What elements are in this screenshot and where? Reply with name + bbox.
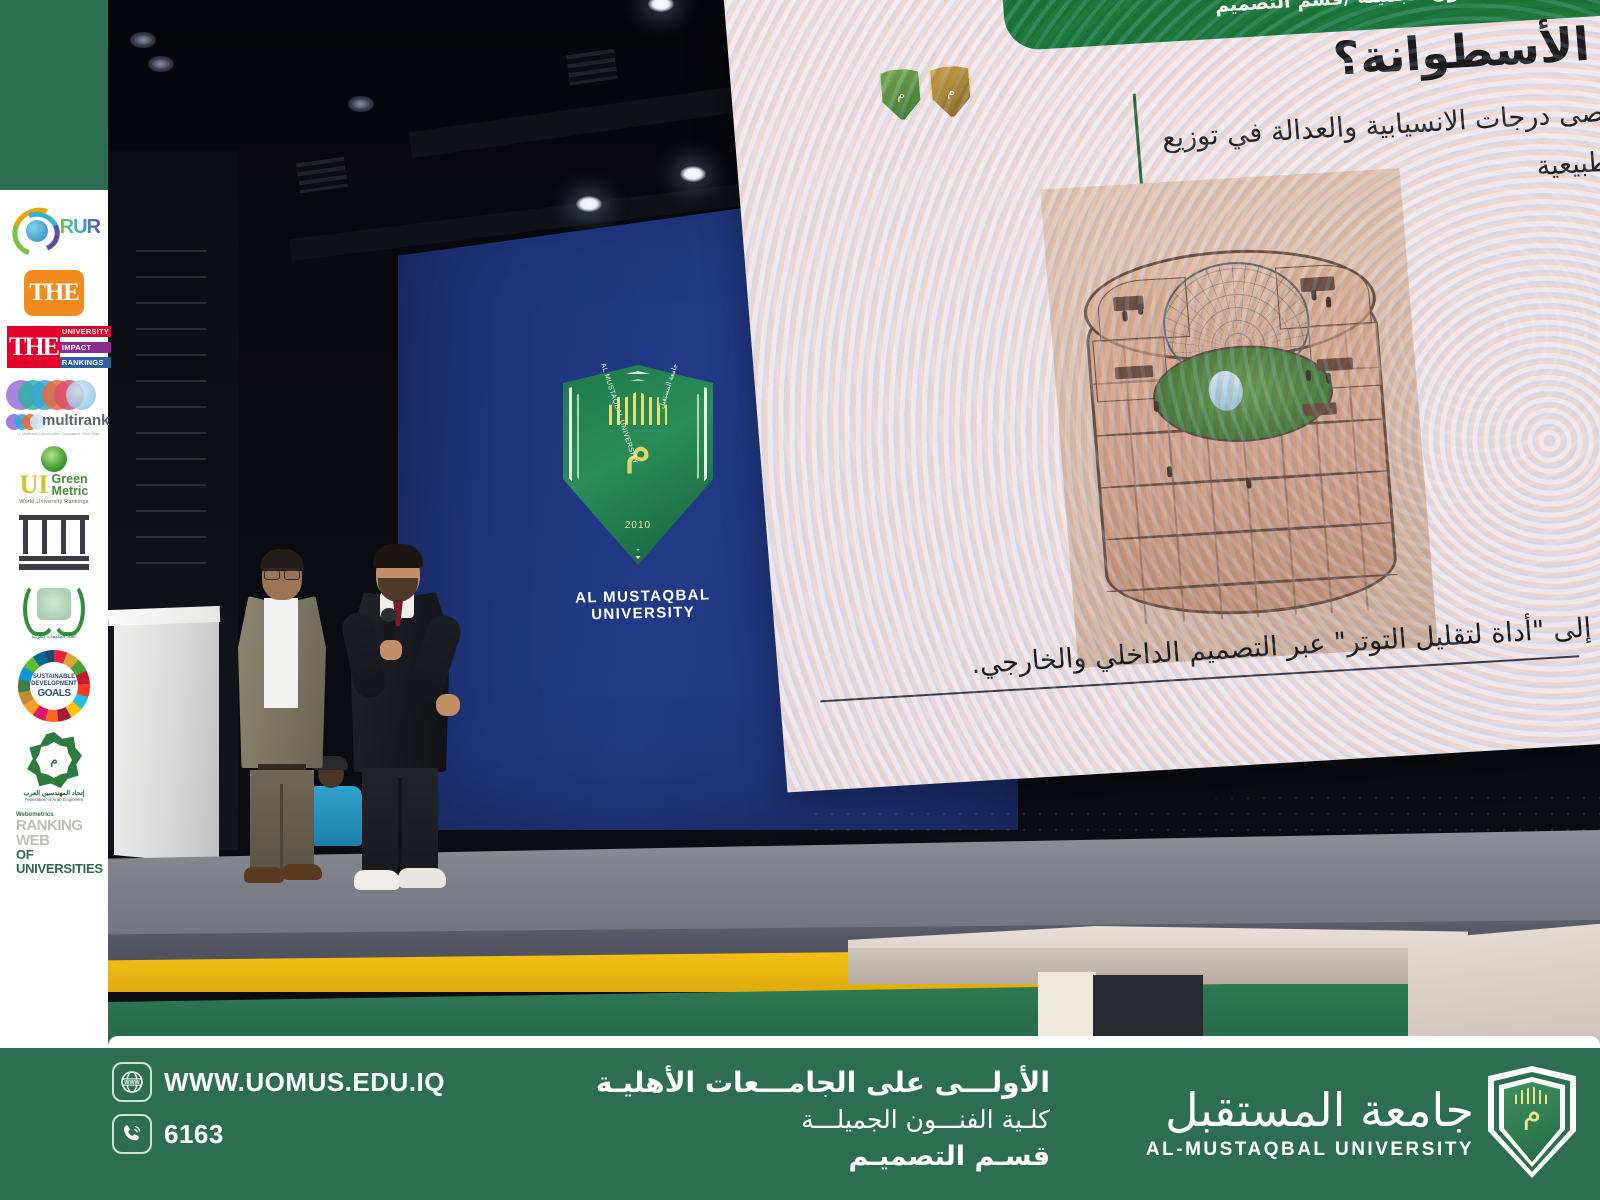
sidebar-item-rur[interactable]: RUR [5,204,103,260]
the-impact-line1: UNIVERSITY [60,326,111,337]
footer-brand-english: AL-MUSTAQBAL UNIVERSITY [1146,1139,1474,1161]
the-impact-rankings-logo-icon: THE UNIVERSITY IMPACT RANKINGS [7,326,101,368]
multirank-label: multirank [42,412,110,429]
multirank-sub: U-Multirank Universities Compared. Your … [6,432,102,436]
footer-shield-glyph: م [1488,1096,1576,1131]
sdg-goals-label: GOALS [37,688,70,699]
the-impact-line3: RANKINGS [60,357,111,368]
footer-website-label: WWW.UOMUS.EDU.IQ [164,1067,445,1098]
presenter-standing-left [228,552,333,882]
slide-illustration-cylinder-building [1040,168,1438,668]
the-logo-icon: THE [24,270,84,316]
ui-greenmetric-label: UI [20,474,49,496]
phone-icon [112,1114,152,1154]
slide-header-text: جامعة المستقبل /كلية الفنون الجميلة /قسم… [1214,0,1600,17]
presenter-speaking-right [340,548,460,896]
sidebar-item-federation-arab-engineers[interactable]: م إتحاد المهندسين العرب Federation of Ar… [5,732,103,802]
webometrics-line1: RANKING WEB [16,818,102,848]
footer-tagline-line1: الأولـــى على الجامـــعات الأهليـة [530,1064,1050,1102]
multirank-logo-icon: multirank U-Multirank Universities Compa… [6,378,102,436]
arab-universities-union-logo-icon: اتحاد الجامعات العربية [6,580,102,640]
ui-greenmetric-logo-icon: UI Green Metric World University Ranking… [6,446,102,505]
footer-brand-arabic: جامعة المستقبل [1146,1083,1474,1137]
backdrop-university-shield: م 2010 AL MUSTAQBAL UNIVERSITY جامعة الم… [563,365,713,565]
svg-text:WWW: WWW [124,1080,140,1086]
ui-greenmetric-line2: Metric [52,485,89,497]
sdg-label: SUSTAINABLE DEVELOPMENT [18,674,90,688]
rur-logo-icon: RUR [6,204,102,260]
podium [114,615,219,865]
footer-tagline-line2: كلـية الفنـــون الجميلـــة [530,1102,1050,1138]
sidebar-item-webometrics[interactable]: Webometrics RANKING WEB OF UNIVERSITIES [5,812,103,876]
footer-website-row[interactable]: WWW WWW.UOMUS.EDU.IQ [112,1062,445,1102]
eyeglasses-icon [264,568,300,576]
slide-logo-badges: م م [878,63,974,122]
sidebar-item-unesco-pillars[interactable] [5,515,103,570]
floor-ramp [1408,920,1600,1048]
footer-phone-row[interactable]: 6163 [112,1114,445,1154]
ceiling-spotlight [130,32,156,48]
sidebar-item-the-impact[interactable]: THE UNIVERSITY IMPACT RANKINGS [5,326,103,368]
footer-brand-block: جامعة المستقبل AL-MUSTAQBAL UNIVERSITY م [1146,1066,1576,1178]
footer-phone-label: 6163 [164,1119,224,1150]
footer-brand-text: جامعة المستقبل AL-MUSTAQBAL UNIVERSITY [1146,1083,1474,1161]
sdg-wheel-icon: SUSTAINABLE DEVELOPMENT GOALS [18,650,90,722]
the-impact-line2: IMPACT [60,342,111,353]
event-photograph: م 2010 AL MUSTAQBAL UNIVERSITY جامعة الم… [108,0,1600,1048]
rankings-sidebar: RUR THE THE UNIVERSITY IMPACT RANKINGS [0,190,108,1040]
webometrics-line2: OF UNIVERSITIES [16,848,102,876]
ceiling-spotlight [576,196,602,212]
ceiling-spotlight [348,96,374,112]
the-label: THE [29,279,79,307]
footer-tagline-block: الأولـــى على الجامـــعات الأهليـة كلـية… [530,1064,1050,1176]
slide-badge-college-icon: م [878,66,924,122]
slide-badge-university-icon: م [928,63,974,119]
federation-arab-engineers-logo-icon: م إتحاد المهندسين العرب Federation of Ar… [6,732,102,802]
sidebar-item-arab-universities-union[interactable]: اتحاد الجامعات العربية [5,580,103,640]
footer-contact-block: WWW WWW.UOMUS.EDU.IQ 6163 [112,1062,445,1154]
fae-label-en: Federation of Arab Engineers [6,797,102,802]
the-impact-label: THE [7,326,60,368]
fae-glyph: م [50,753,57,767]
ui-greenmetric-sub: World University Rankings [6,499,102,505]
webometrics-logo-icon: Webometrics RANKING WEB OF UNIVERSITIES [6,812,102,876]
sidebar-item-sdg[interactable]: SUSTAINABLE DEVELOPMENT GOALS [5,650,103,722]
rur-label: RUR [60,216,100,239]
ceiling-spotlight [680,166,706,182]
footer-university-shield-icon: م [1488,1066,1576,1178]
ceiling-spotlight [148,56,174,72]
fae-label-ar: إتحاد المهندسين العرب [6,789,102,797]
projected-slide: جامعة المستقبل /كلية الفنون الجميلة /قسم… [723,0,1600,792]
footer-bar: WWW WWW.UOMUS.EDU.IQ 6163 الأولـــى على … [0,1048,1600,1200]
globe-www-icon: WWW [112,1062,152,1102]
footer-tagline-line3: قسـم التصميـم [530,1138,1050,1176]
arab-universities-union-label: اتحاد الجامعات العربية [6,634,102,640]
sidebar-item-ui-greenmetric[interactable]: UI Green Metric World University Ranking… [5,446,103,505]
backdrop-university-caption: AL MUSTAQBAL UNIVERSITY [523,585,764,625]
sidebar-item-multirank[interactable]: multirank U-Multirank Universities Compa… [5,378,103,436]
shield-year: 2010 [625,520,651,531]
sidebar-item-the[interactable]: THE [5,270,103,316]
stage-truss [136,250,206,580]
classical-building-pillars-icon [19,515,89,570]
screenshot-root: م 2010 AL MUSTAQBAL UNIVERSITY جامعة الم… [0,0,1600,1200]
